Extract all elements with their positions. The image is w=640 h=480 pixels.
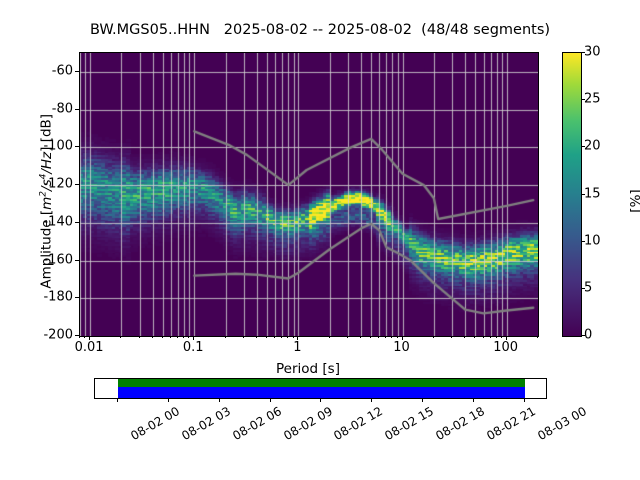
colorbar-tick-label: 5 <box>584 280 592 295</box>
colorbar-tick-label: 30 <box>584 45 601 60</box>
x-axis-tick-mark <box>89 336 90 340</box>
data-coverage-green <box>118 379 525 387</box>
x-axis-minor-tick-mark <box>378 336 379 338</box>
x-axis-minor-tick-mark <box>266 336 267 338</box>
x-axis-minor-tick-mark <box>433 336 434 338</box>
x-axis-minor-tick-mark <box>360 336 361 338</box>
y-axis-tick-label: -100 <box>43 139 73 154</box>
x-axis-minor-tick-mark <box>177 336 178 338</box>
colorbar-tick-mark <box>581 194 585 195</box>
timeline-tick-label: 08-02 00 <box>128 404 182 443</box>
x-axis-minor-tick-mark <box>120 336 121 338</box>
x-axis-minor-tick-mark <box>347 336 348 338</box>
x-axis-minor-tick-mark <box>464 336 465 338</box>
colorbar-tick-label: 10 <box>584 233 601 248</box>
x-axis-minor-tick-mark <box>152 336 153 338</box>
x-axis-minor-tick-mark <box>162 336 163 338</box>
x-axis-minor-tick-mark <box>256 336 257 338</box>
colorbar <box>562 52 582 337</box>
colorbar-tick-mark <box>581 146 585 147</box>
y-axis-tick-label: -120 <box>43 177 73 192</box>
colorbar-tick-mark <box>581 99 585 100</box>
timeline-tick-mark <box>371 398 372 402</box>
colorbar-tick-mark <box>581 52 585 53</box>
x-axis-minor-tick-mark <box>483 336 484 338</box>
timeline-tick-label: 08-02 03 <box>179 404 233 443</box>
timeline-tick-label: 08-03 00 <box>535 404 589 443</box>
x-axis-minor-tick-mark <box>225 336 226 338</box>
y-axis-tick-mark <box>75 260 79 261</box>
data-coverage-blue <box>118 387 525 398</box>
x-axis-minor-tick-mark <box>385 336 386 338</box>
x-axis-minor-tick-mark <box>451 336 452 338</box>
y-axis-tick-mark <box>75 297 79 298</box>
y-axis-tick-mark <box>75 71 79 72</box>
data-coverage-timeline[interactable] <box>94 378 547 399</box>
x-axis-minor-tick-mark <box>188 336 189 338</box>
timeline-tick-mark <box>219 398 220 402</box>
x-axis-minor-tick-mark <box>170 336 171 338</box>
colorbar-tick-mark <box>581 288 585 289</box>
colorbar-label: [%] <box>628 161 640 241</box>
colorbar-tick-mark <box>581 335 585 336</box>
y-axis-tick-mark <box>75 184 79 185</box>
y-axis-tick-mark <box>75 109 79 110</box>
timeline-tick-mark <box>270 398 271 402</box>
colorbar-tick-label: 0 <box>584 328 592 343</box>
x-axis-minor-tick-mark <box>79 336 80 338</box>
colorbar-tick-label: 15 <box>584 186 601 201</box>
timeline-tick-label: 08-02 06 <box>230 404 284 443</box>
timeline-tick-label: 08-02 21 <box>484 404 538 443</box>
x-axis-label: Period [s] <box>79 361 537 377</box>
x-axis-minor-tick-mark <box>243 336 244 338</box>
timeline-tick-mark <box>473 398 474 402</box>
y-axis-tick-mark <box>75 146 79 147</box>
x-axis-minor-tick-mark <box>139 336 140 338</box>
y-axis-tick-label: -180 <box>43 290 73 305</box>
figure-title: BW.MGS05..HHN 2025-08-02 -- 2025-08-02 (… <box>0 22 640 38</box>
x-axis-minor-tick-mark <box>496 336 497 338</box>
timeline-tick-mark <box>524 398 525 402</box>
timeline-tick-label: 08-02 18 <box>433 404 487 443</box>
colorbar-tick-label: 25 <box>584 92 601 107</box>
timeline-tick-mark <box>117 398 118 402</box>
x-axis-minor-tick-mark <box>474 336 475 338</box>
timeline-tick-mark <box>320 398 321 402</box>
x-axis-minor-tick-mark <box>329 336 330 338</box>
ppsd-figure: BW.MGS05..HHN 2025-08-02 -- 2025-08-02 (… <box>0 0 640 480</box>
x-axis-tick-label: 10 <box>393 340 410 355</box>
x-axis-tick-mark <box>402 336 403 340</box>
x-axis-tick-label: 0.1 <box>183 340 204 355</box>
x-axis-minor-tick-mark <box>537 336 538 338</box>
y-axis-tick-label: -200 <box>43 328 73 343</box>
x-axis-tick-mark <box>297 336 298 340</box>
x-axis-minor-tick-mark <box>501 336 502 338</box>
timeline-tick-mark <box>422 398 423 402</box>
timeline-tick-label: 08-02 09 <box>281 404 335 443</box>
x-axis-minor-tick-mark <box>293 336 294 338</box>
y-axis-tick-label: -160 <box>43 252 73 267</box>
timeline-tick-mark <box>168 398 169 402</box>
colorbar-tick-label: 20 <box>584 139 601 154</box>
timeline-tick-label: 08-02 15 <box>382 404 436 443</box>
y-axis-tick-label: -140 <box>43 214 73 229</box>
ppsd-histogram-canvas <box>80 53 538 336</box>
x-axis-minor-tick-mark <box>397 336 398 338</box>
x-axis-tick-mark <box>506 336 507 340</box>
x-axis-tick-label: 1 <box>293 340 301 355</box>
x-axis-tick-label: 100 <box>493 340 518 355</box>
x-axis-minor-tick-mark <box>84 336 85 338</box>
x-axis-minor-tick-mark <box>391 336 392 338</box>
y-axis-tick-label: -80 <box>52 101 73 116</box>
x-axis-tick-mark <box>193 336 194 340</box>
x-axis-minor-tick-mark <box>274 336 275 338</box>
ppsd-plot-area[interactable] <box>79 52 539 337</box>
x-axis-tick-label: 0.01 <box>75 340 104 355</box>
colorbar-tick-mark <box>581 241 585 242</box>
x-axis-minor-tick-mark <box>370 336 371 338</box>
timeline-tick-label: 08-02 12 <box>332 404 386 443</box>
x-axis-minor-tick-mark <box>281 336 282 338</box>
x-axis-minor-tick-mark <box>490 336 491 338</box>
y-axis-tick-mark <box>75 222 79 223</box>
y-axis-tick-label: -60 <box>52 63 73 78</box>
x-axis-minor-tick-mark <box>287 336 288 338</box>
x-axis-minor-tick-mark <box>183 336 184 338</box>
